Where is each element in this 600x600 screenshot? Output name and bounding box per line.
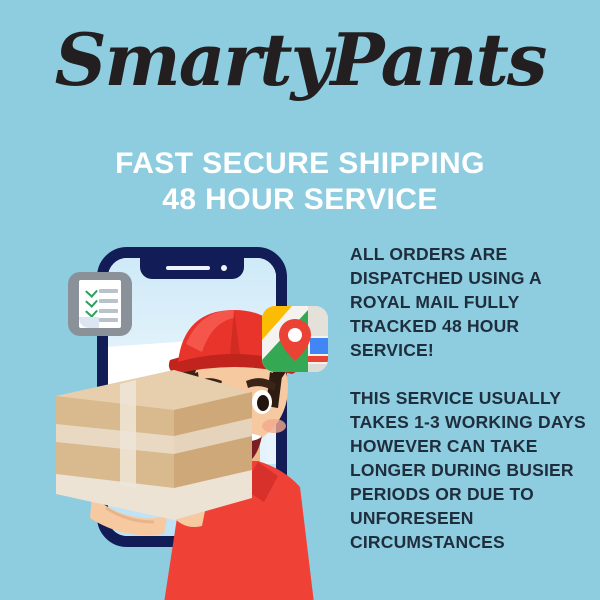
phone-notch [140, 257, 244, 279]
phone-speaker-icon [166, 266, 210, 270]
body-paragraph-2: THIS SERVICE USUALLY TAKES 1-3 WORKING D… [350, 386, 594, 554]
phone-camera-icon [221, 265, 227, 271]
checklist-line [99, 299, 118, 303]
headline-line-2: 48 HOUR SERVICE [0, 182, 600, 218]
shipping-info-poster: SmartyPants FAST SECURE SHIPPING 48 HOUR… [0, 0, 600, 600]
page-headline: FAST SECURE SHIPPING 48 HOUR SERVICE [0, 146, 600, 218]
checklist-line [99, 309, 118, 313]
body-copy: ALL ORDERS ARE DISPATCHED USING A ROYAL … [350, 242, 594, 554]
checklist-line [99, 289, 118, 293]
map-pin-icon [262, 306, 328, 372]
cardboard-box-illustration [48, 362, 258, 547]
body-paragraph-1: ALL ORDERS ARE DISPATCHED USING A ROYAL … [350, 242, 594, 362]
headline-line-1: FAST SECURE SHIPPING [115, 147, 485, 180]
checklist-icon [68, 272, 132, 336]
brand-logo: SmartyPants [0, 22, 600, 98]
checklist-line [99, 318, 118, 322]
